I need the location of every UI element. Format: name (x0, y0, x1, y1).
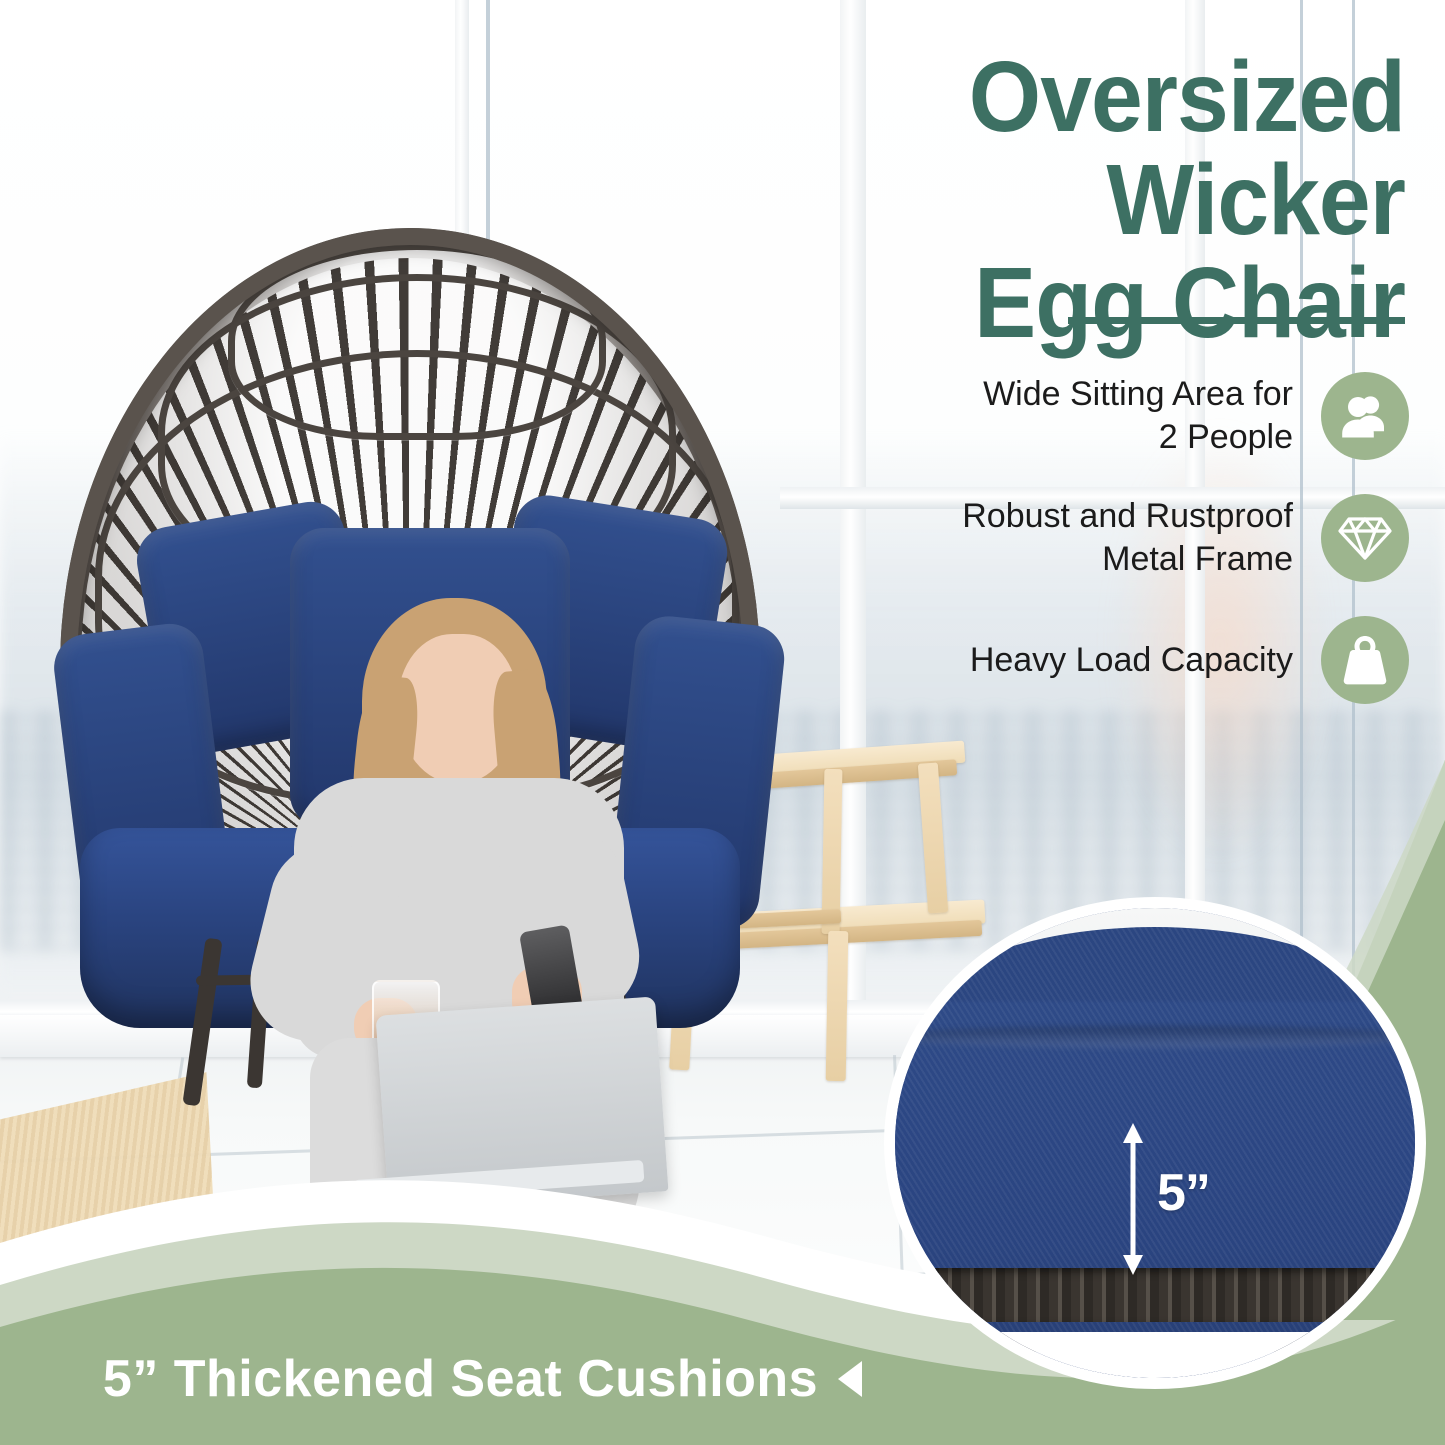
left-triangle-icon (838, 1361, 862, 1397)
cushion-seam-crease (895, 1026, 1415, 1048)
two-people-icon (1339, 390, 1391, 442)
feature-badge (1321, 616, 1409, 704)
diamond-icon (1338, 513, 1392, 563)
feature-item-rustproof-metal-frame: Robust and Rustproof Metal Frame (889, 494, 1409, 582)
page-title: Oversized Wicker Egg Chair (670, 46, 1405, 355)
banner-label: 5” Thickened Seat Cushions (103, 1349, 818, 1409)
feature-list: Wide Sitting Area for 2 People Robust an… (889, 372, 1409, 738)
feature-badge (1321, 494, 1409, 582)
chair-leg (182, 938, 222, 1107)
wicker-egg-chair (60, 228, 790, 1108)
feature-item-heavy-load-capacity: Heavy Load Capacity (889, 616, 1409, 704)
product-marketing-banner: Oversized Wicker Egg Chair Wide Sitting … (0, 0, 1445, 1445)
bottom-banner: 5” Thickened Seat Cushions (0, 1349, 1445, 1409)
cushion-thickness-label: 5” (1157, 1163, 1210, 1223)
feature-item-wide-sitting-area: Wide Sitting Area for 2 People (889, 372, 1409, 460)
feature-label: Wide Sitting Area for 2 People (983, 373, 1293, 459)
feature-badge (1321, 372, 1409, 460)
title-underline-rule (1068, 317, 1405, 324)
cushion-thickness-detail-circle: 5” (895, 908, 1415, 1378)
feature-label: Heavy Load Capacity (970, 639, 1293, 682)
double-arrow-vertical-icon (1120, 1123, 1146, 1275)
weight-icon (1340, 634, 1390, 686)
feature-label: Robust and Rustproof Metal Frame (962, 495, 1293, 581)
rattan-base-weave (895, 1268, 1415, 1322)
